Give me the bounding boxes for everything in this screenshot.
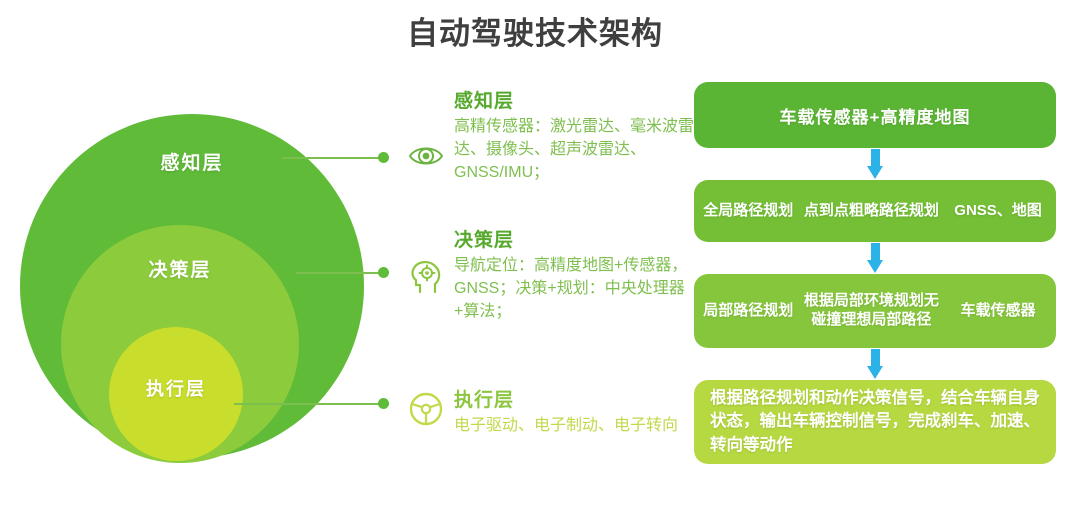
- flow-step-vehicle-control[interactable]: 根据路径规划和动作决策信号，结合车辆自身状态，输出车辆控制信号，完成刹车、加速、…: [694, 380, 1056, 464]
- flow-step-3-cell-1: 局部路径规划: [694, 302, 803, 321]
- circle-execution-layer[interactable]: 执行层: [109, 327, 243, 461]
- flow-step-global-path-planning[interactable]: 全局路径规划 点到点粗略路径规划 GNSS、地图: [694, 180, 1056, 242]
- flow-chart: 车载传感器+高精度地图 全局路径规划 点到点粗略路径规划 GNSS、地图 局部路…: [694, 82, 1056, 464]
- connector-line-execution: [234, 403, 382, 405]
- arrow-down-icon: [867, 149, 884, 179]
- flow-arrow-2-container: [694, 242, 1056, 274]
- brain-gear-icon: [404, 255, 448, 299]
- flow-step-2-cell-3: GNSS、地图: [940, 202, 1056, 221]
- flow-arrow-1-container: [694, 148, 1056, 180]
- legend-heading-decision: 决策层: [454, 225, 694, 252]
- flow-step-3-cell-3: 车载传感器: [940, 302, 1056, 321]
- arrow-down-icon: [867, 349, 884, 379]
- flow-step-local-path-planning[interactable]: 局部路径规划 根据局部环境规划无碰撞理想局部路径 车载传感器: [694, 274, 1056, 348]
- connector-dot-execution: [378, 398, 389, 409]
- legend-heading-perception: 感知层: [454, 86, 694, 113]
- legend-block-decision: 决策层 导航定位：高精度地图+传感器，GNSS；决策+规划：中央处理器+算法；: [404, 225, 694, 324]
- connector-line-perception: [282, 157, 382, 159]
- connector-dot-decision: [378, 267, 389, 278]
- flow-step-sensors-and-map[interactable]: 车载传感器+高精度地图: [694, 82, 1056, 148]
- flow-step-3-cell-2: 根据局部环境规划无碰撞理想局部路径: [803, 292, 941, 330]
- legend-body-decision: 导航定位：高精度地图+传感器，GNSS；决策+规划：中央处理器+算法；: [454, 254, 694, 324]
- legend-body-execution: 电子驱动、电子制动、电子转向: [454, 414, 678, 437]
- page-title: 自动驾驶技术架构: [0, 8, 1070, 53]
- legend-block-execution: 执行层 电子驱动、电子制动、电子转向: [404, 385, 678, 437]
- flow-step-4-label: 根据路径规划和动作决策信号，结合车辆自身状态，输出车辆控制信号，完成刹车、加速、…: [710, 387, 1040, 457]
- flow-step-2-cell-1: 全局路径规划: [694, 202, 803, 221]
- flow-step-2-cell-2: 点到点粗略路径规划: [803, 202, 941, 221]
- connector-dot-perception: [378, 152, 389, 163]
- flow-arrow-3-container: [694, 348, 1056, 380]
- legend-body-perception: 高精传感器：激光雷达、毫米波雷达、摄像头、超声波雷达、GNSS/IMU；: [454, 115, 694, 185]
- layer-circles-diagram: 感知层 决策层 执行层: [14, 108, 384, 478]
- flow-step-1-label: 车载传感器+高精度地图: [780, 103, 971, 128]
- arrow-down-icon: [867, 243, 884, 273]
- connector-line-decision: [296, 272, 382, 274]
- eye-icon: [404, 134, 448, 178]
- legend-heading-execution: 执行层: [454, 385, 678, 412]
- steering-wheel-icon: [404, 387, 448, 431]
- circle-execution-label: 执行层: [146, 375, 206, 461]
- legend-block-perception: 感知层 高精传感器：激光雷达、毫米波雷达、摄像头、超声波雷达、GNSS/IMU；: [404, 86, 694, 185]
